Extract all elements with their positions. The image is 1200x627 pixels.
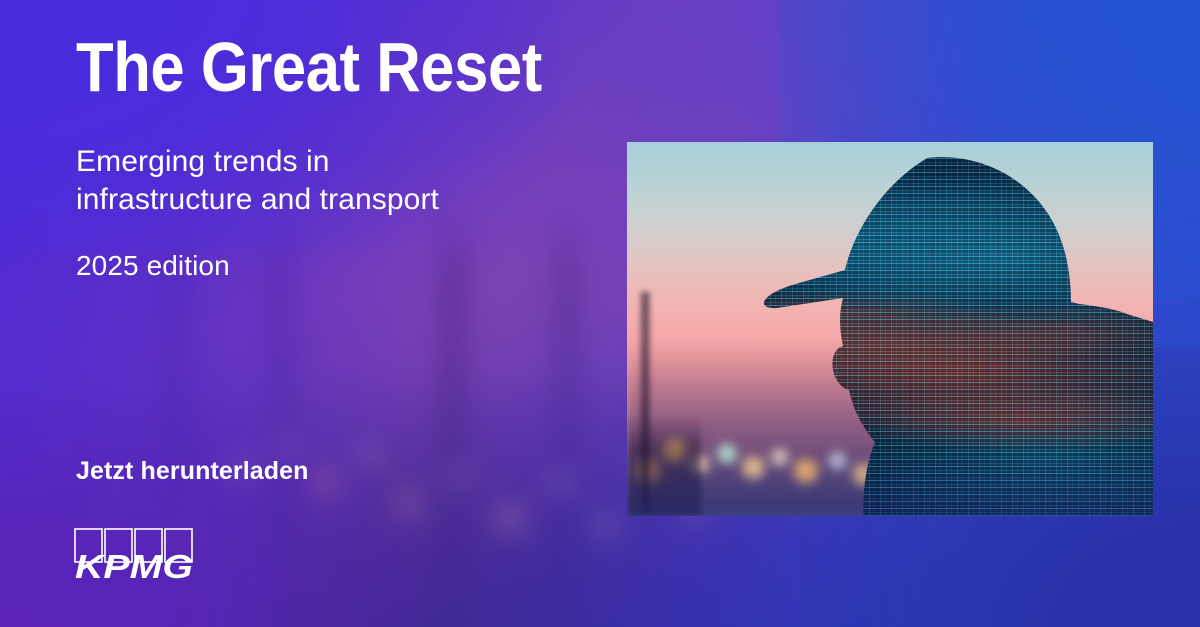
download-cta-link[interactable]: Jetzt herunterladen	[76, 457, 309, 486]
banner-content: The Great Reset Emerging trends in infra…	[0, 0, 1200, 627]
svg-text:KPMG: KPMG	[75, 548, 193, 584]
subtitle-line-2: infrastructure and transport	[76, 181, 439, 219]
subtitle: Emerging trends in infrastructure and tr…	[76, 143, 439, 220]
edition-label: 2025 edition	[76, 250, 230, 282]
kpmg-logo-icon[interactable]: KPMG	[74, 528, 196, 584]
page-title: The Great Reset	[76, 32, 542, 102]
promo-banner: The Great Reset Emerging trends in infra…	[0, 0, 1200, 627]
subtitle-line-1: Emerging trends in	[76, 143, 439, 181]
